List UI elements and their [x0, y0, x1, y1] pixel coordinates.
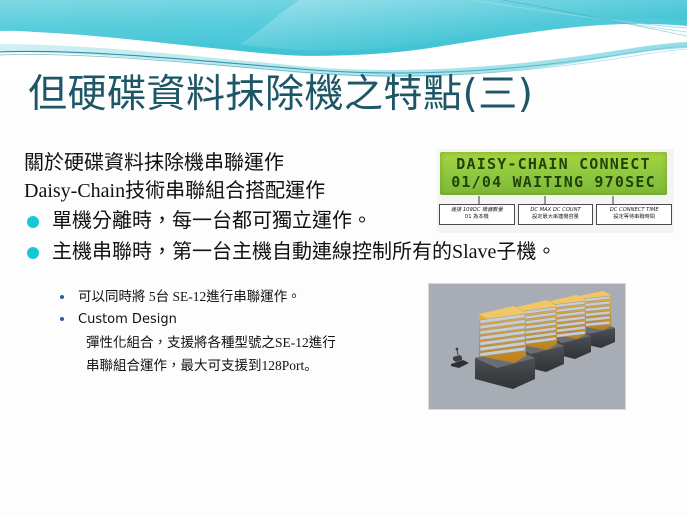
lcd-line-2: 01/04 WAITING 970SEC [440, 173, 667, 191]
sub-bullet-group: 可以同時將 5台 SE-12進行串聯運作。 Custom Design 彈性化組… [56, 286, 456, 377]
slide-canvas: 但硬碟資料抹除機之特點(三) 關於硬碟資料抹除機串聯運作 Daisy-Chain… [0, 0, 687, 517]
callout-2-title: DC MAX DC COUNT [520, 207, 592, 214]
callout-box-1: 連接 109DC 機器數量 01 為本機 [439, 204, 515, 225]
callout-3-title: DC CONNECT TIME [598, 207, 670, 214]
sub-bullet-dot-icon [60, 317, 64, 321]
sub-bullet-dot-icon [60, 295, 64, 299]
callout-2-desc: 設定最大串連機容量 [520, 214, 592, 221]
sub-paragraph-line-2: 串聯組合運作，最大可支援到128Port。 [56, 354, 456, 377]
callout-box-group: 連接 109DC 機器數量 01 為本機 DC MAX DC COUNT 設定最… [439, 204, 672, 225]
page-title: 但硬碟資料抹除機之特點(三) [28, 72, 668, 118]
lcd-screen: DAISY-CHAIN CONNECT 01/04 WAITING 970SEC [440, 152, 667, 195]
bullet-dot-icon [27, 216, 39, 228]
bullet-item-2-label: 主機串聯時，第一台主機自動連線控制所有的Slave子機。 [52, 241, 556, 263]
sub-bullet-item-1-label: 可以同時將 5台 SE-12進行串聯運作。 [78, 289, 301, 304]
bullet-item-2: 主機串聯時，第一台主機自動連線控制所有的Slave子機。 [24, 237, 664, 268]
decorative-header-band [0, 0, 687, 80]
sub-bullet-item-2: Custom Design [56, 308, 456, 331]
callout-box-3: DC CONNECT TIME 設定等待串聯時間 [596, 204, 672, 225]
bullet-item-1-label: 單機分離時，每一台都可獨立運作。 [52, 210, 372, 232]
callout-1-desc: 01 為本機 [441, 214, 513, 221]
callout-1-title: 連接 109DC 機器數量 [441, 207, 513, 214]
sub-bullet-item-1: 可以同時將 5台 SE-12進行串聯運作。 [56, 286, 456, 308]
callout-3-desc: 設定等待串聯時間 [598, 214, 670, 221]
lcd-diagram-figure: DAISY-CHAIN CONNECT 01/04 WAITING 970SEC [437, 149, 674, 233]
product-render-figure [428, 283, 626, 410]
lcd-line-1: DAISY-CHAIN CONNECT [440, 155, 667, 173]
sub-paragraph-line-1: 彈性化組合，支援將各種型號之SE-12進行 [56, 331, 456, 354]
sub-bullet-item-2-label: Custom Design [78, 312, 177, 327]
bullet-dot-icon [27, 247, 39, 259]
callout-box-2: DC MAX DC COUNT 設定最大串連機容量 [518, 204, 594, 225]
